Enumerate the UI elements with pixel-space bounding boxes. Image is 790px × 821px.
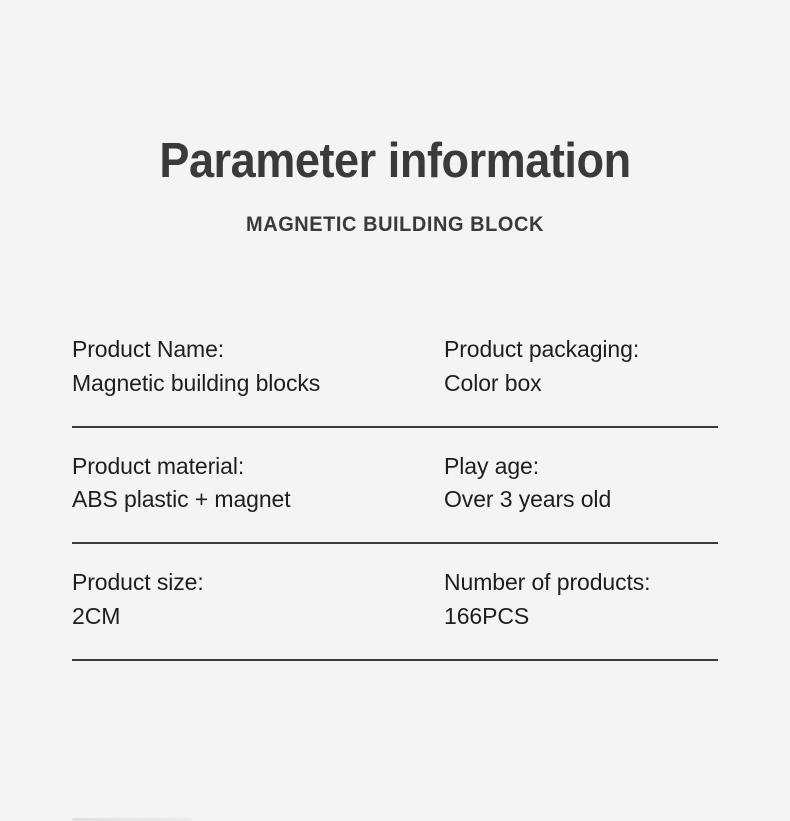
page-title: Parameter information <box>32 134 759 189</box>
page-subtitle: MAGNETIC BUILDING BLOCK <box>20 189 771 237</box>
table-row: Product material: ABS plastic + magnet P… <box>72 428 718 545</box>
spec-cell-product-name: Product Name: Magnetic building blocks <box>72 333 444 401</box>
spec-label: Play age: <box>444 450 718 484</box>
specification-table: Product Name: Magnetic building blocks P… <box>72 333 718 661</box>
product-parameter-page: Parameter information MAGNETIC BUILDING … <box>0 0 790 821</box>
spec-value: Magnetic building blocks <box>72 367 444 401</box>
spec-value: 2CM <box>72 600 444 634</box>
table-row: Product Name: Magnetic building blocks P… <box>72 333 718 428</box>
spec-cell-play-age: Play age: Over 3 years old <box>444 450 718 518</box>
spec-cell-product-size: Product size: 2CM <box>72 566 444 634</box>
spec-label: Product material: <box>72 450 444 484</box>
spec-cell-product-packaging: Product packaging: Color box <box>444 333 718 401</box>
table-row: Product size: 2CM Number of products: 16… <box>72 544 718 661</box>
spec-label: Number of products: <box>444 566 718 600</box>
spec-value: Over 3 years old <box>444 483 718 517</box>
spec-value: Color box <box>444 367 718 401</box>
spec-label: Product Name: <box>72 333 444 367</box>
spec-cell-product-material: Product material: ABS plastic + magnet <box>72 450 444 518</box>
spec-value: ABS plastic + magnet <box>72 483 444 517</box>
spec-label: Product size: <box>72 566 444 600</box>
spec-cell-number-of-products: Number of products: 166PCS <box>444 566 718 634</box>
spec-label: Product packaging: <box>444 333 718 367</box>
page-header: Parameter information MAGNETIC BUILDING … <box>0 134 790 237</box>
spec-value: 166PCS <box>444 600 718 634</box>
